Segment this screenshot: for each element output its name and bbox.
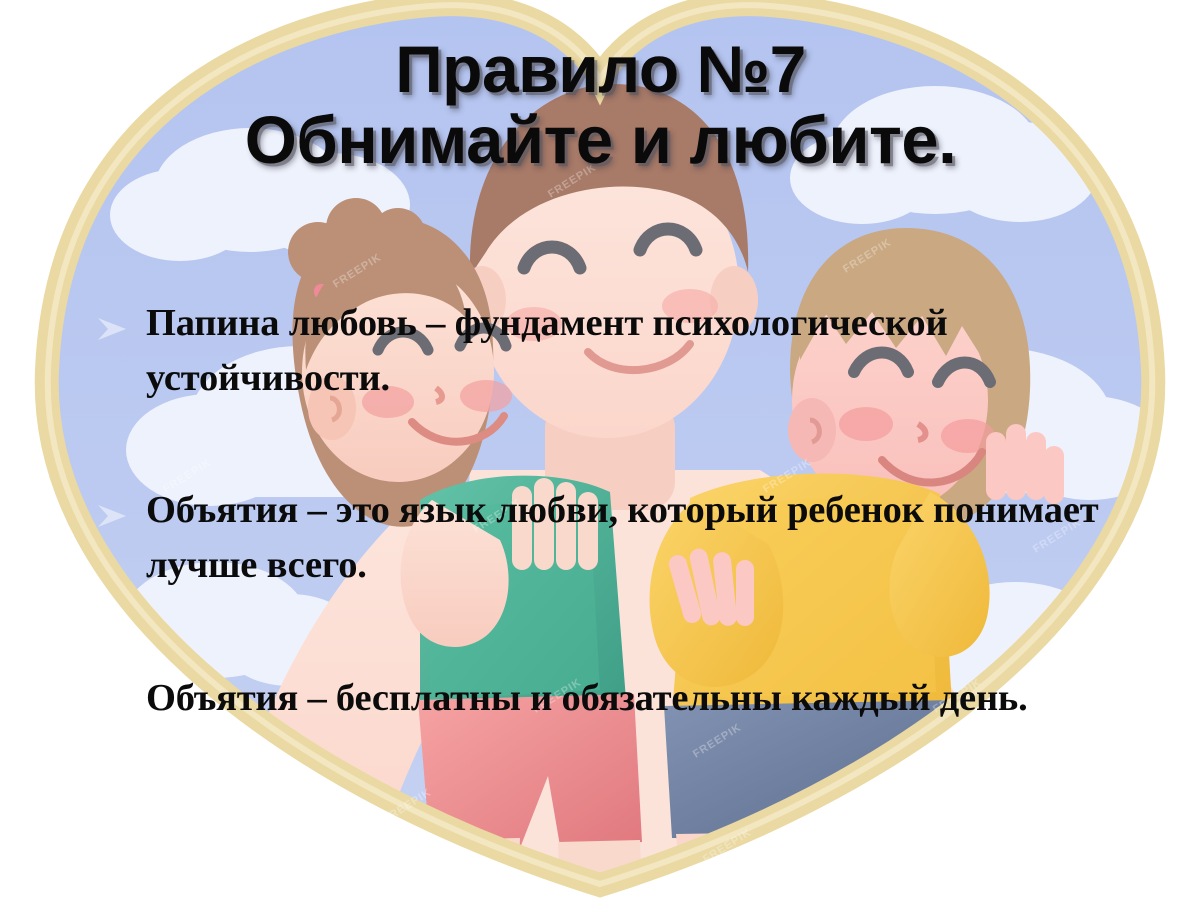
text-layer: Правило №7 Обнимайте и любите. Папина лю… (0, 0, 1201, 901)
title-line-2: Обнимайте и любите. (0, 105, 1201, 177)
bullet-text-3: Объятия – бесплатны и обязательны каждый… (146, 671, 1153, 726)
bullet-list: Папина любовь – фундамент психологическо… (0, 296, 1201, 767)
bullet-item-3: Объятия – бесплатны и обязательны каждый… (0, 671, 1201, 767)
bullet-text-1: Папина любовь – фундамент психологическо… (146, 296, 1153, 405)
title-line-1: Правило №7 (0, 34, 1201, 105)
bullet-text-2: Объятия – это язык любви, который ребено… (146, 483, 1153, 592)
bullet-item-2: Объятия – это язык любви, который ребено… (0, 483, 1201, 592)
arrow-bullet-icon (96, 691, 130, 717)
arrow-bullet-icon (96, 503, 130, 529)
page-title: Правило №7 Обнимайте и любите. (0, 34, 1201, 176)
slide-canvas: FREEPIK FREEPIK FREEPIK FREEPIK FREEPIK … (0, 0, 1201, 901)
arrow-bullet-icon (96, 316, 130, 342)
bullet-item-1: Папина любовь – фундамент психологическо… (0, 296, 1201, 405)
